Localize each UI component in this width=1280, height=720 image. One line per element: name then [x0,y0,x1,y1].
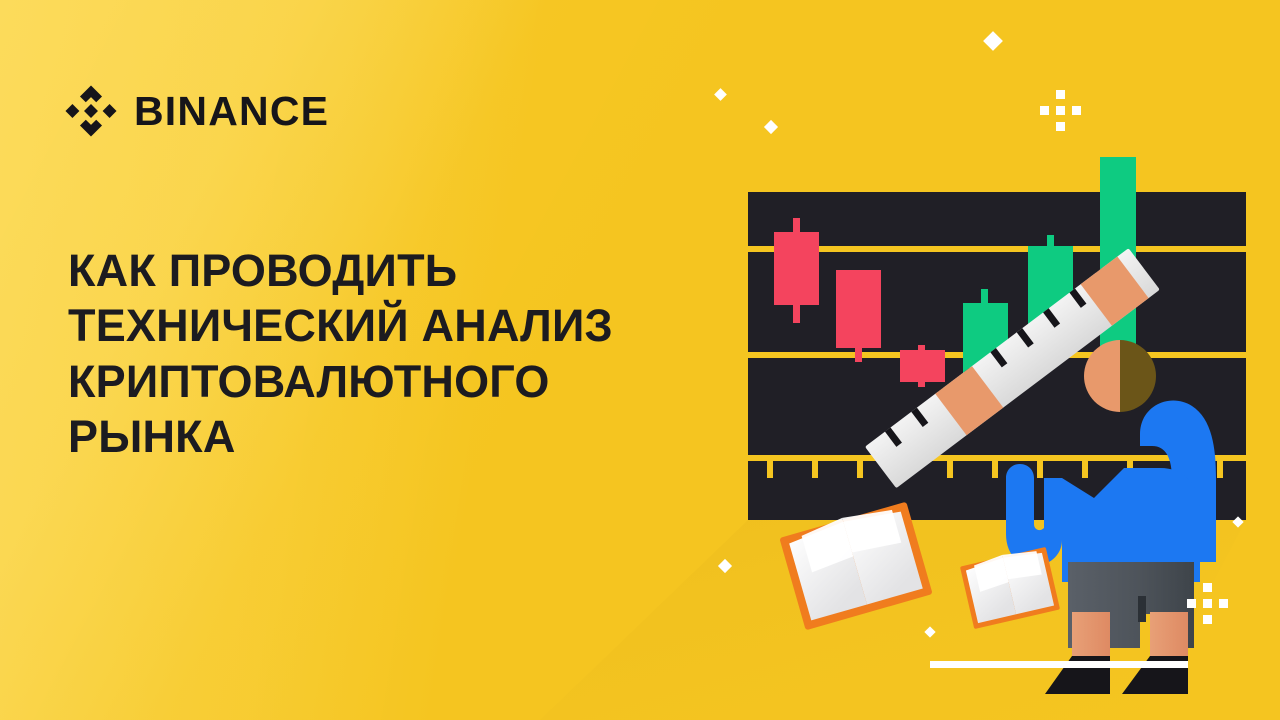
candle-body [774,232,819,305]
floor-line [930,661,1188,668]
page-title: КАК ПРОВОДИТЬ ТЕХНИЧЕСКИЙ АНАЛИЗ КРИПТОВ… [68,243,768,464]
binance-wordmark: BINANCE [134,91,329,132]
person-head [1084,340,1156,412]
binance-logo[interactable]: BINANCE [62,82,329,140]
headline-line-2: ТЕХНИЧЕСКИЙ АНАЛИЗ [68,298,768,353]
candle-overflow-top [1100,157,1136,197]
candle-body [900,350,945,382]
binance-diamond-icon [62,82,120,140]
headline-line-4: РЫНКА [68,409,768,464]
headline-line-1: КАК ПРОВОДИТЬ [68,243,768,298]
binance-banner: BINANCE КАК ПРОВОДИТЬ ТЕХНИЧЕСКИЙ АНАЛИЗ… [0,0,1280,720]
headline-line-3: КРИПТОВАЛЮТНОГО [68,354,768,409]
candle-body [836,270,881,348]
